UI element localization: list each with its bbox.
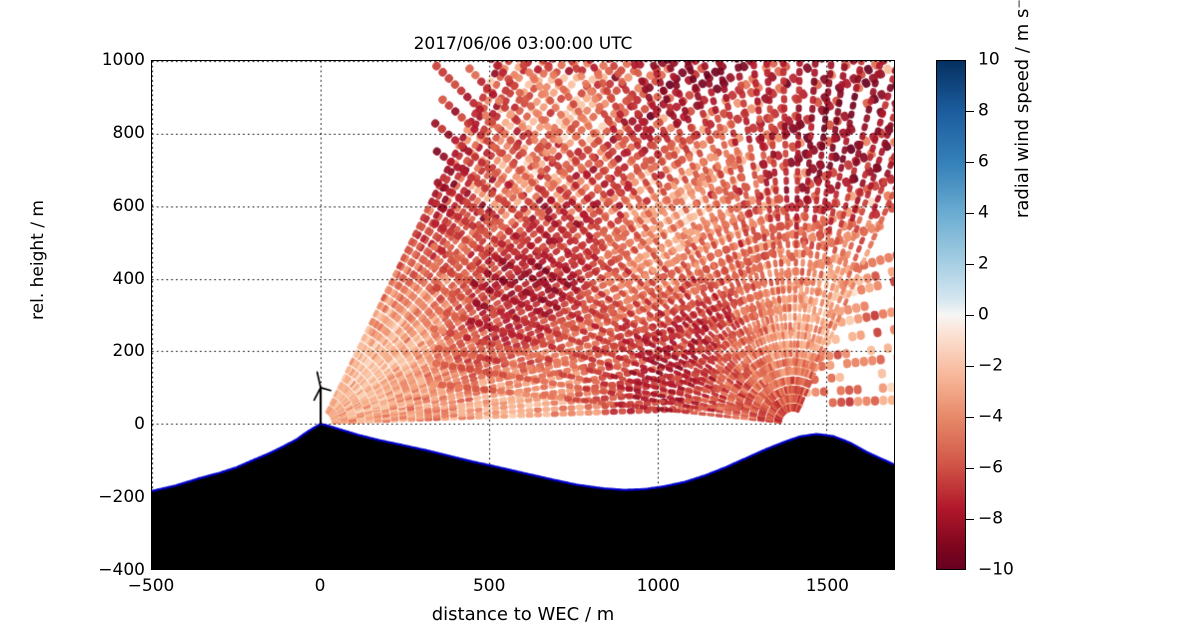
colorbar-tick-label: 0 [978,307,989,324]
x-tick-label: −500 [106,578,196,595]
colorbar-gradient [936,60,966,570]
colorbar-tick-label: 6 [978,154,989,171]
colorbar-tick [966,315,974,316]
figure-canvas: 2017/06/06 03:00:00 UTC −400−20002004006… [0,0,1200,636]
y-tick-label: −200 [79,489,145,506]
y-tick-label: 0 [79,416,145,433]
colorbar-tick-label: 8 [978,103,989,120]
colorbar-tick-label: −4 [978,409,1003,426]
y-tick-label: 1000 [79,52,145,69]
x-axis-label: distance to WEC / m [151,604,895,625]
colorbar-tick [966,519,974,520]
plot-axes[interactable] [151,60,895,570]
colorbar-tick [966,264,974,265]
colorbar-tick-label: −10 [978,562,1014,579]
colorbar-tick [966,111,974,112]
x-tick-label: 0 [275,578,365,595]
colorbar-tick-label: 10 [978,52,1000,69]
colorbar-tick [966,468,974,469]
y-tick-labels: −400−20002004006008001000 [75,0,145,636]
colorbar-tick-label: 2 [978,256,989,273]
y-tick-label: 800 [79,125,145,142]
y-axis-label-wrapper: rel. height / m [0,0,1,1]
colorbar-tick-label: −2 [978,358,1003,375]
x-tick-label: 1000 [613,578,703,595]
colorbar-label: radial wind speed / m s⁻¹ [1012,0,1033,315]
y-tick-label: 400 [79,271,145,288]
colorbar-tick [966,366,974,367]
x-tick-labels: −500050010001500 [151,578,895,602]
y-tick-label: 200 [79,343,145,360]
colorbar-tick [966,417,974,418]
plot-title: 2017/06/06 03:00:00 UTC [151,34,895,54]
colorbar[interactable]: −10−8−6−4−20246810 [936,60,966,570]
colorbar-tick-label: −6 [978,460,1003,477]
colorbar-tick-label: 4 [978,205,989,222]
lidar-scan-render [152,61,894,569]
colorbar-tick [966,162,974,163]
y-tick-label: 600 [79,198,145,215]
y-axis-label: rel. height / m [28,160,48,360]
x-tick-label: 1500 [782,578,872,595]
colorbar-tick [966,213,974,214]
x-tick-label: 500 [444,578,534,595]
colorbar-tick-label: −8 [978,511,1003,528]
